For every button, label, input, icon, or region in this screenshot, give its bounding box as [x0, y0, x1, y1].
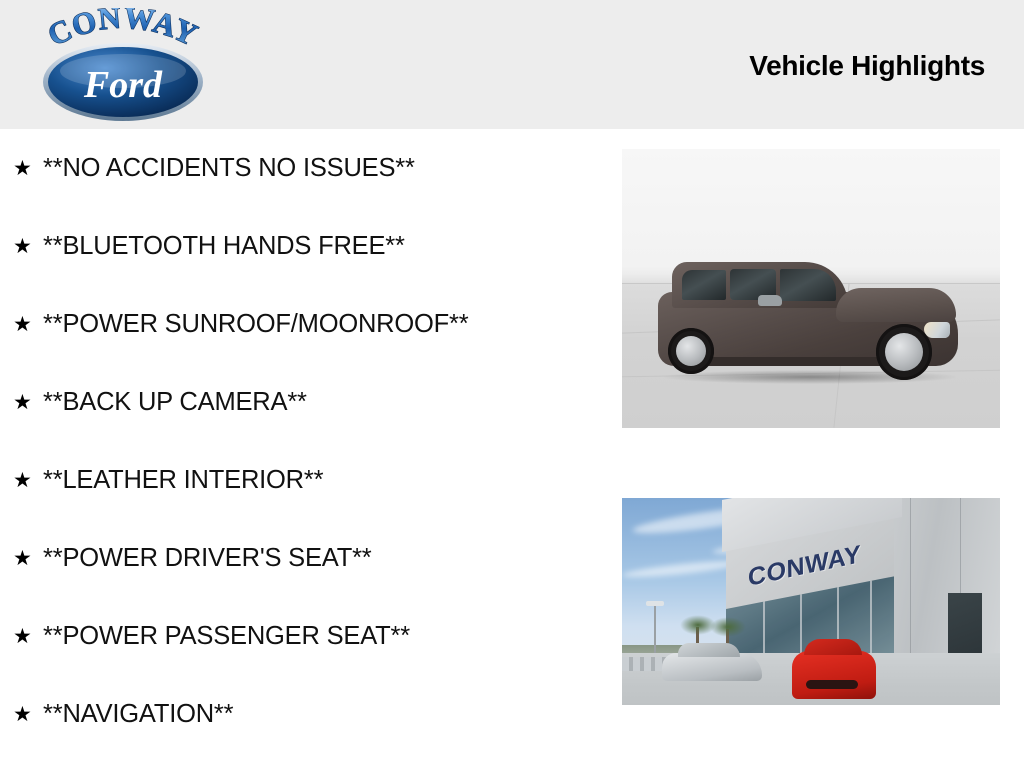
highlight-text: **BACK UP CAMERA** [43, 388, 307, 417]
red-car [792, 651, 876, 699]
suv-illustration [658, 252, 958, 380]
silver-car [662, 653, 762, 681]
list-item: ★ **BLUETOOTH HANDS FREE** [0, 207, 610, 285]
list-item: ★ **NAVIGATION** [0, 675, 610, 753]
vehicle-front-wheel [876, 324, 932, 380]
dealer-logo[interactable]: CONWAY [22, 8, 222, 120]
main-content: ★ **NO ACCIDENTS NO ISSUES** ★ **BLUETOO… [0, 129, 1024, 768]
highlight-text: **POWER PASSENGER SEAT** [43, 622, 410, 651]
svg-text:CONWAY: CONWAY [42, 8, 204, 53]
vehicle-rear-wheel [668, 328, 714, 374]
star-bullet-icon: ★ [13, 470, 43, 491]
page-header: CONWAY [0, 0, 1024, 129]
svg-text:Ford: Ford [83, 64, 163, 106]
glass-mullion [870, 581, 872, 659]
cloud [622, 558, 742, 580]
list-item: ★ **LEATHER INTERIOR** [0, 441, 610, 519]
vehicle-highlights-list: ★ **NO ACCIDENTS NO ISSUES** ★ **BLUETOO… [0, 129, 610, 753]
dealership-photo[interactable]: CONWAY [622, 498, 1000, 705]
vehicle-hood [836, 288, 956, 322]
star-bullet-icon: ★ [13, 704, 43, 725]
vehicle-rocker-panel [680, 357, 910, 366]
highlight-text: **NO ACCIDENTS NO ISSUES** [43, 154, 415, 183]
star-bullet-icon: ★ [13, 392, 43, 413]
star-bullet-icon: ★ [13, 626, 43, 647]
highlight-text: **POWER SUNROOF/MOONROOF** [43, 310, 469, 339]
highlight-text: **NAVIGATION** [43, 700, 233, 729]
palm-fronds [710, 617, 746, 637]
highlight-text: **POWER DRIVER'S SEAT** [43, 544, 372, 573]
star-bullet-icon: ★ [13, 314, 43, 335]
list-item: ★ **BACK UP CAMERA** [0, 363, 610, 441]
list-item: ★ **NO ACCIDENTS NO ISSUES** [0, 129, 610, 207]
vehicle-side-mirror [758, 295, 782, 306]
conway-wordmark-icon: CONWAY [28, 8, 218, 60]
vehicle-windshield [780, 269, 836, 301]
star-bullet-icon: ★ [13, 158, 43, 179]
vehicle-window [682, 270, 726, 300]
vehicle-photo[interactable] [622, 149, 1000, 428]
list-item: ★ **POWER PASSENGER SEAT** [0, 597, 610, 675]
star-bullet-icon: ★ [13, 236, 43, 257]
highlight-text: **LEATHER INTERIOR** [43, 466, 323, 495]
list-item: ★ **POWER DRIVER'S SEAT** [0, 519, 610, 597]
vehicle-highlights-page: CONWAY [0, 0, 1024, 768]
star-bullet-icon: ★ [13, 548, 43, 569]
page-title: Vehicle Highlights [749, 50, 985, 82]
highlight-text: **BLUETOOTH HANDS FREE** [43, 232, 405, 261]
vehicle-headlight [924, 322, 950, 338]
list-item: ★ **POWER SUNROOF/MOONROOF** [0, 285, 610, 363]
red-car-grille [806, 680, 858, 689]
